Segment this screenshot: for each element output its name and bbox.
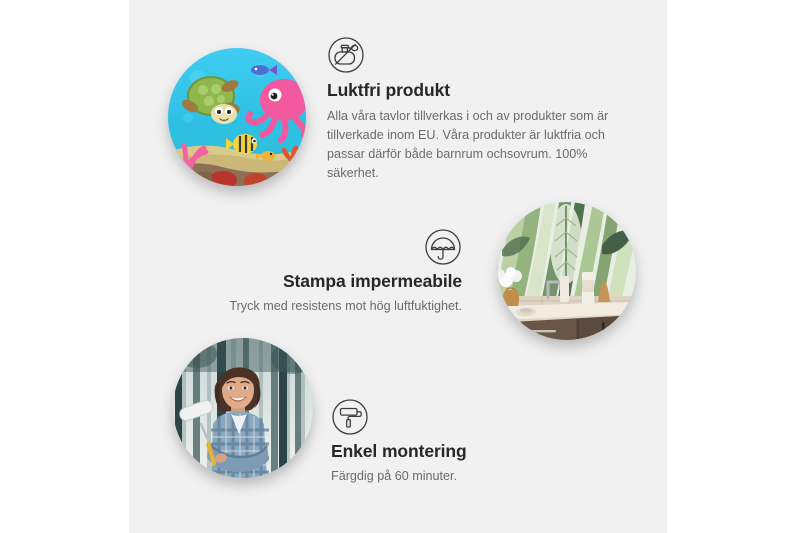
paint-roller-icon (331, 398, 369, 436)
feature-body: Färgdig på 60 minuter. (331, 467, 581, 486)
feature-odourless: Luktfri produkt Alla våra tavlor tillver… (327, 36, 619, 183)
feature-title: Luktfri produkt (327, 80, 619, 102)
umbrella-icon (424, 228, 462, 266)
bathroom-illustration (498, 202, 636, 340)
forest-illustration (173, 338, 313, 478)
feature-title: Enkel montering (331, 441, 581, 463)
feature-title: Stampa impermeabile (196, 271, 462, 293)
underwater-illustration (168, 48, 306, 186)
feature-body: Tryck med resistens mot hög luftfuktighe… (196, 297, 462, 316)
feature-waterproof: Stampa impermeabile Tryck med resistens … (196, 228, 462, 316)
feature-easy-mounting: Enkel montering Färgdig på 60 minuter. (331, 398, 581, 486)
feature-body: Alla våra tavlor tillverkas i och av pro… (327, 107, 619, 184)
photo-bathroom-scene (498, 202, 636, 340)
photo-underwater-scene (168, 48, 306, 186)
feature-highlights-banner: Luktfri produkt Alla våra tavlor tillver… (0, 0, 800, 533)
no-fragrance-icon (327, 36, 365, 74)
photo-forest-scene (173, 338, 313, 478)
